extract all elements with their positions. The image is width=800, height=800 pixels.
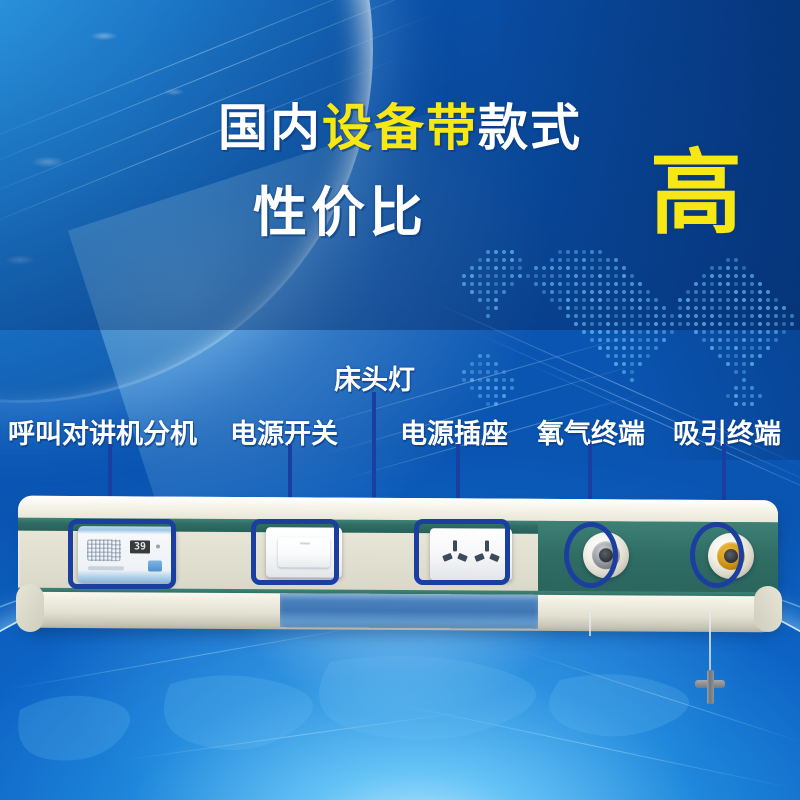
headline-part2: 款式 [478,99,582,157]
highlight-box-power-socket [414,519,510,585]
callout-label-intercom-extension: 呼叫对讲机分机 [8,412,197,451]
panel-left-end-cap [16,584,44,632]
headline-part1: 国内 [218,99,322,157]
highlight-circle-suction-terminal [690,522,744,588]
callout-label-power-socket: 电源插座 [400,412,508,451]
bedside-lamp-strip[interactable] [280,593,538,629]
suction-hose-cable [709,612,711,674]
headline-big-word: 高 [650,148,742,240]
callout-label-suction-terminal: 吸引终端 [673,412,781,451]
oxygen-hose-cable [589,612,591,636]
highlight-circle-oxygen-terminal [564,522,618,588]
probe-shaft [707,670,714,704]
highlight-box-power-switch [251,519,339,585]
headline-secondary: 性价比 [60,168,620,247]
headline-highlight: 设备带 [322,99,478,157]
product-banner-image: 国内设备带款式 性价比 高 呼叫对讲机分机 电源开关 床头灯 电源插座 氧气终端… [0,0,800,800]
continent-silhouettes [0,640,800,800]
gas-probe-connector-icon [695,670,725,704]
panel-right-end-cap [754,586,782,632]
callout-label-power-switch: 电源开关 [230,412,338,451]
highlight-box-intercom-extension [68,519,176,589]
